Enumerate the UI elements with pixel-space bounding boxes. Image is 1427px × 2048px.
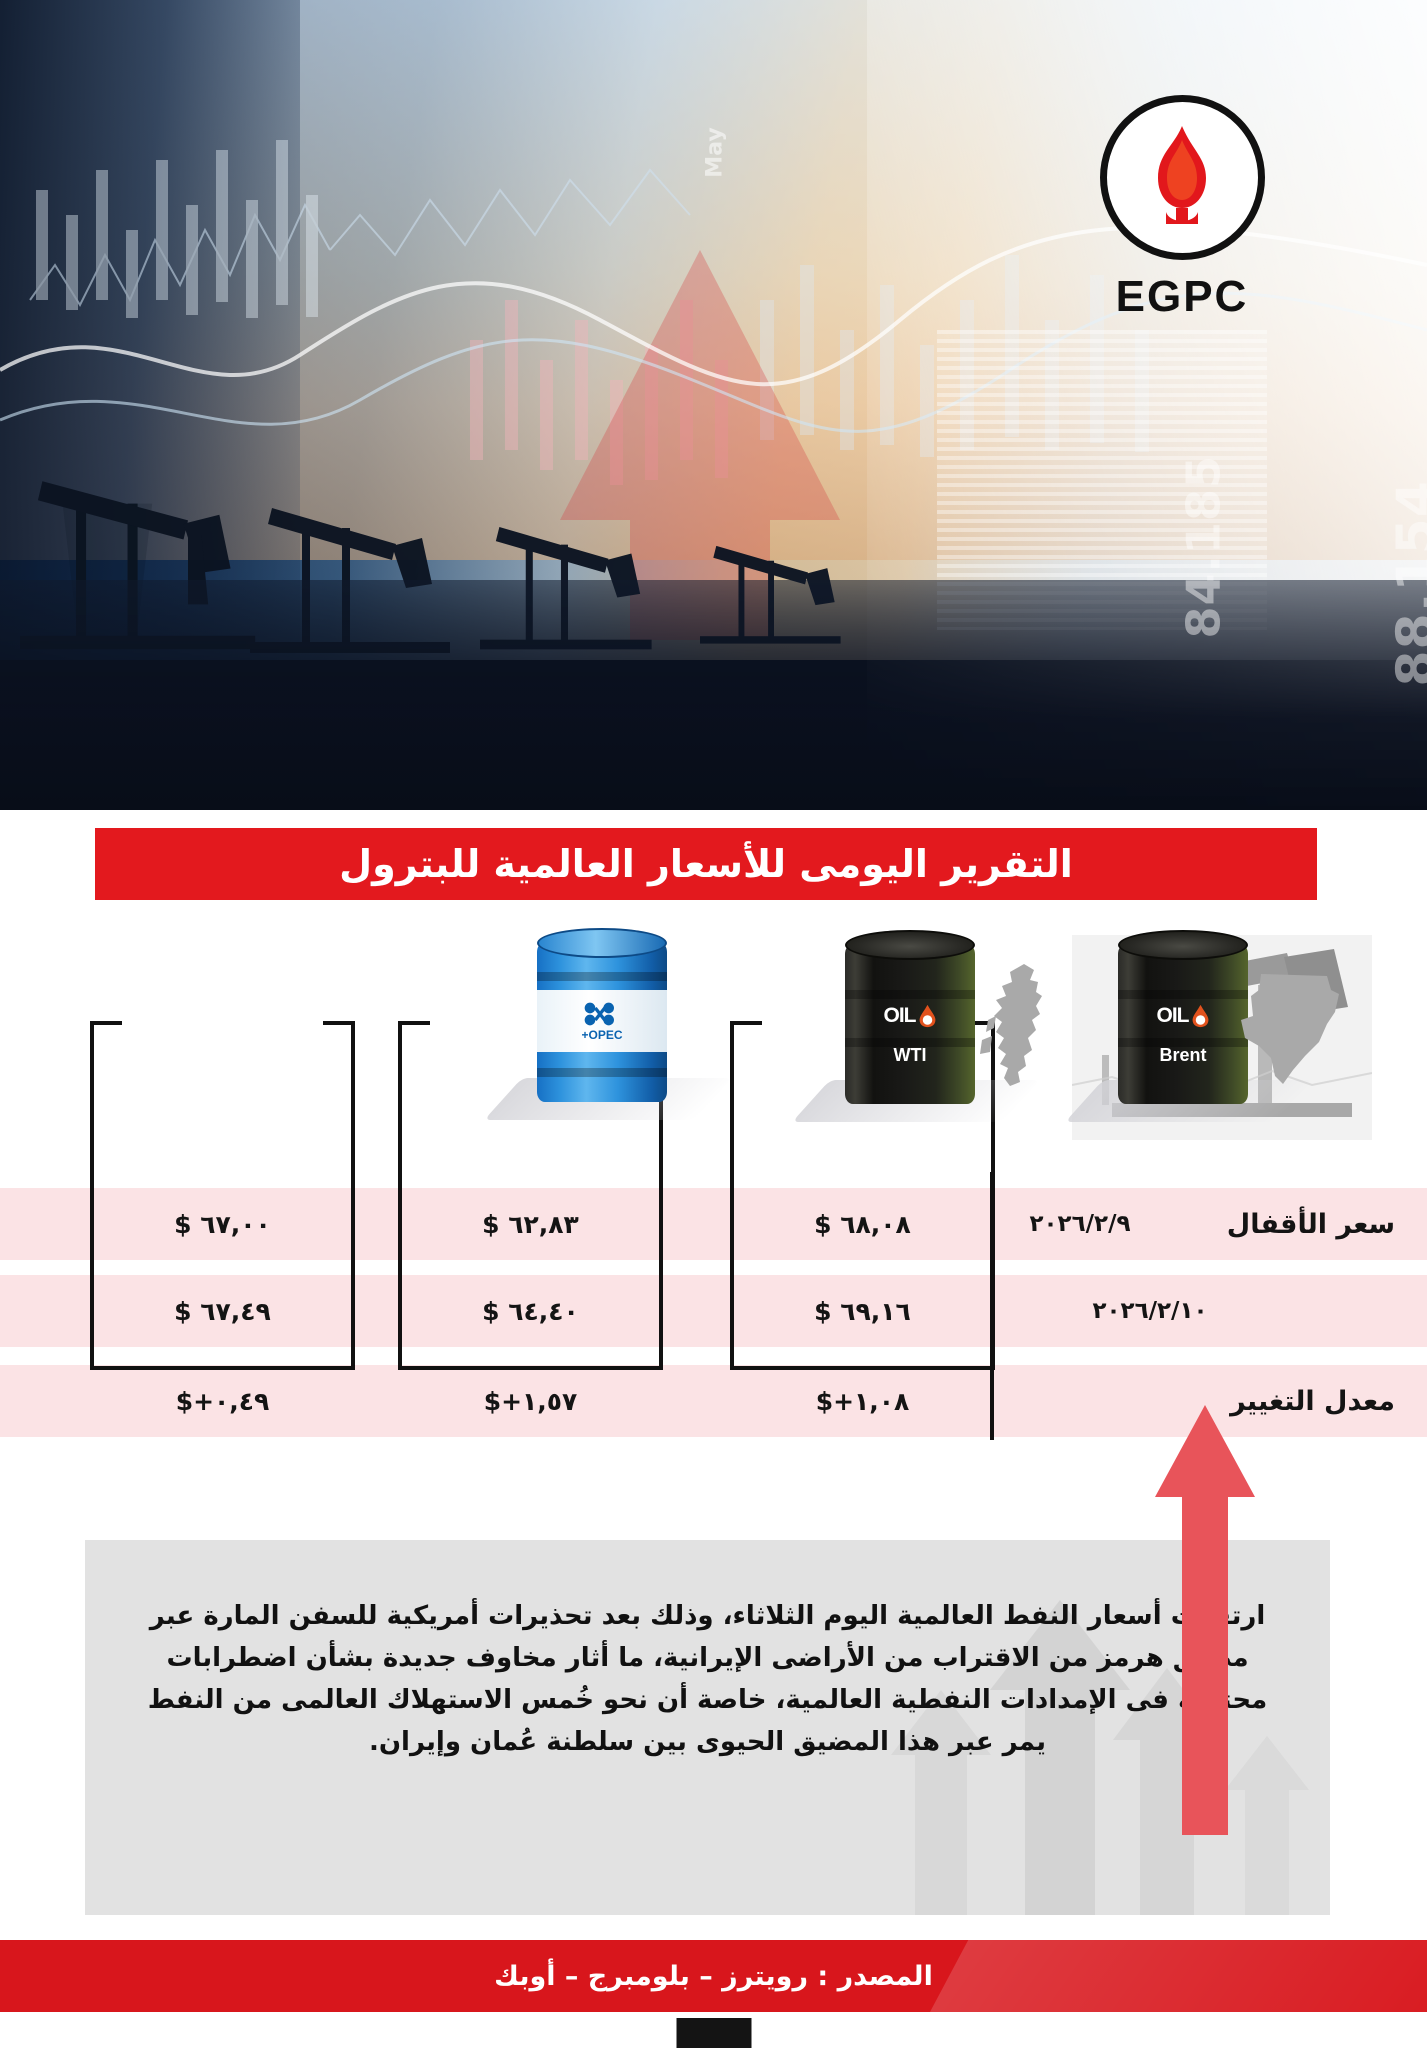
barrel-brent: OIL Brent (1118, 930, 1248, 1115)
barrel-rib (845, 990, 975, 999)
cell-wti-row3: $+١,٥٧ (398, 1365, 663, 1437)
bracket-cap-left (730, 1021, 762, 1025)
oil-brand-mark: OIL (845, 1004, 975, 1028)
oil-drop-icon (918, 1004, 937, 1028)
barrel-label-wti: WTI (845, 1045, 975, 1066)
egpc-logo: EGPC (1082, 95, 1282, 322)
barrel-label-opec: OPEC+ (581, 1028, 622, 1042)
red-up-arrow-icon (1150, 1405, 1260, 1835)
footer-source: المصدر : رويترز – بلومبرج – أوبك (494, 1961, 933, 1992)
cell-wti-row2: $ ٦٤,٤٠ (398, 1275, 663, 1347)
cell-opec-row3: $+٠,٤٩ (90, 1365, 355, 1437)
texas-map-icon (1235, 972, 1345, 1090)
hero-price-tick-2: 88.154 (1387, 480, 1427, 687)
news-panel: ارتفعت أسعار النفط العالمية اليوم الثلاث… (85, 1540, 1330, 1915)
barrel-wti: OIL WTI (845, 930, 975, 1115)
infographic-page: May 84.185 88.154 EGPC التقرير اليومى لل… (0, 0, 1427, 2048)
bottom-tab-marker (676, 2018, 751, 2048)
barrel-lid (537, 928, 667, 958)
row-label-closing-price: سعر الأقفال (1155, 1188, 1405, 1260)
barrel-opec: OPEC+ (537, 928, 667, 1113)
bracket-cap-left (90, 1021, 122, 1025)
barrel-rib (537, 972, 667, 981)
cell-opec-row1: $ ٦٧,٠٠ (90, 1188, 355, 1260)
oil-text: OIL (884, 1004, 916, 1028)
footer-sheen (904, 1940, 1427, 2012)
barrel-label-band: OPEC+ (537, 990, 667, 1052)
hero-price-tick-1: 84.185 (1177, 455, 1231, 639)
cell-wti-row1: $ ٦٢,٨٣ (398, 1188, 663, 1260)
barrel-lid (1118, 930, 1248, 960)
barrel-rib (537, 1068, 667, 1077)
barrel-lid (845, 930, 975, 960)
oil-drop-icon (1191, 1004, 1210, 1028)
cell-brent-row2: $ ٦٩,١٦ (730, 1275, 995, 1347)
cell-brent-row1: $ ٦٨,٠٨ (730, 1188, 995, 1260)
logo-text: EGPC (1082, 272, 1282, 322)
barrel-label-brent: Brent (1118, 1045, 1248, 1066)
hero-banner: May 84.185 88.154 EGPC (0, 0, 1427, 810)
cell-opec-row2: $ ٦٧,٤٩ (90, 1275, 355, 1347)
footer-bar: المصدر : رويترز – بلومبرج – أوبك (0, 1940, 1427, 2012)
report-title-bar: التقرير اليومى للأسعار العالمية للبترول (95, 828, 1317, 900)
barrel-rib (1118, 990, 1248, 999)
oil-text: OIL (1157, 1004, 1189, 1028)
bracket-cap-right (323, 1021, 355, 1025)
uk-map-icon (980, 962, 1058, 1090)
opec-logo-icon (582, 1001, 622, 1027)
flame-icon (1136, 124, 1228, 232)
page-title: التقرير اليومى للأسعار العالمية للبترول (339, 842, 1073, 886)
hero-month-label: May (703, 127, 728, 177)
oil-brand-mark: OIL (1118, 1004, 1248, 1028)
bracket-cap-left (398, 1021, 430, 1025)
cell-date-row1: ٢٠٢٦/٢/٩ (1000, 1188, 1160, 1260)
news-body: ارتفعت أسعار النفط العالمية اليوم الثلاث… (85, 1540, 1330, 1763)
cell-date-row2: ٢٠٢٦/٢/١٠ (1000, 1275, 1300, 1347)
cell-brent-row3: $+١,٠٨ (730, 1365, 995, 1437)
logo-circle (1100, 95, 1265, 260)
